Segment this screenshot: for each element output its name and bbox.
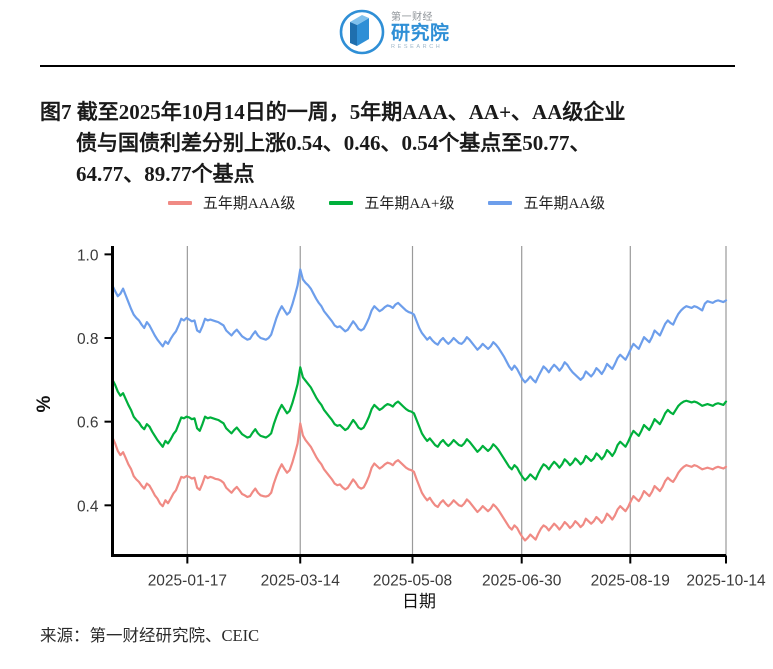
legend-label-aa-plus: 五年期AA+级	[364, 192, 454, 213]
line-chart-svg: 0.40.60.81.0 2025-01-172025-03-142025-05…	[0, 222, 773, 622]
legend-item-aa-plus[interactable]: 五年期AA+级	[329, 192, 454, 213]
series-line	[113, 423, 727, 540]
page-header: 第一财经 研究院 RESEARCH	[0, 0, 773, 66]
figure-title-line-3: 64.77、89.77个基点	[40, 159, 740, 190]
y-tick-label: 0.4	[77, 498, 99, 515]
header-divider	[40, 65, 735, 67]
legend-label-aaa: 五年期AAA级	[203, 192, 296, 213]
logo-main-text: 研究院	[391, 24, 450, 43]
legend-label-aa: 五年期AA级	[523, 192, 605, 213]
figure-title-line-1: 图7 截至2025年10月14日的一周，5年期AAA、AA+、AA级企业	[40, 97, 740, 128]
x-axis-title: 日期	[402, 592, 436, 611]
y-axis-tick-labels: 0.40.60.81.0	[77, 247, 99, 515]
legend-swatch-aa-plus	[329, 201, 353, 205]
x-tick-label: 2025-08-19	[591, 573, 670, 590]
logo-wordmark: 第一财经 研究院 RESEARCH	[391, 13, 450, 51]
x-tick-label: 2025-05-08	[373, 573, 452, 590]
logo-mark-icon	[339, 9, 385, 55]
legend-swatch-aa	[488, 201, 512, 205]
brand-logo: 第一财经 研究院 RESEARCH	[339, 7, 451, 57]
y-tick-label: 0.6	[77, 415, 99, 432]
series-line	[113, 367, 727, 480]
chart-legend: 五年期AAA级 五年期AA+级 五年期AA级	[0, 192, 773, 213]
y-axis-title: %	[34, 395, 55, 412]
legend-item-aaa[interactable]: 五年期AAA级	[168, 192, 296, 213]
source-note: 来源：第一财经研究院、CEIC	[40, 622, 259, 646]
y-tick-label: 1.0	[77, 247, 99, 264]
chart-gridlines	[187, 246, 726, 556]
logo-top-text: 第一财经	[391, 13, 450, 23]
x-axis-tick-labels: 2025-01-172025-03-142025-05-082025-06-30…	[148, 573, 766, 590]
series-line	[113, 269, 727, 382]
figure-title: 图7 截至2025年10月14日的一周，5年期AAA、AA+、AA级企业 债与国…	[40, 97, 740, 190]
x-tick-label: 2025-10-14	[686, 573, 766, 590]
figure-title-line-2: 债与国债利差分别上涨0.54、0.46、0.54个基点至50.77、	[40, 128, 740, 159]
legend-item-aa[interactable]: 五年期AA级	[488, 192, 605, 213]
y-tick-label: 0.8	[77, 331, 99, 348]
legend-swatch-aaa	[168, 201, 192, 205]
x-tick-label: 2025-01-17	[148, 573, 227, 590]
chart-series-lines	[113, 269, 727, 540]
x-tick-label: 2025-06-30	[482, 573, 562, 590]
chart-plot-area: 0.40.60.81.0 2025-01-172025-03-142025-05…	[0, 222, 773, 622]
chart-axis-spines	[111, 246, 726, 556]
logo-sub-text: RESEARCH	[391, 45, 450, 51]
x-tick-label: 2025-03-14	[261, 573, 341, 590]
